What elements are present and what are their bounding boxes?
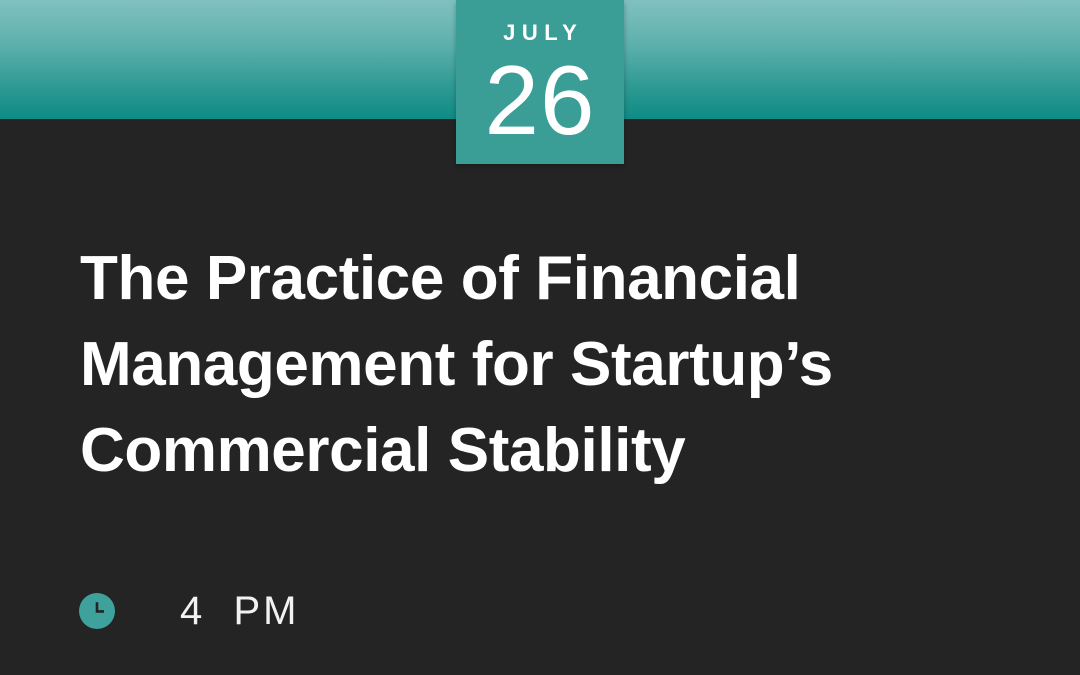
clock-icon	[79, 593, 115, 629]
event-title: The Practice of Financial Management for…	[80, 236, 960, 494]
event-time-row: 4 PM	[79, 591, 299, 631]
event-card: JULY 26 The Practice of Financial Manage…	[0, 0, 1080, 675]
card-body: The Practice of Financial Management for…	[0, 119, 1080, 675]
date-badge: JULY 26	[456, 0, 624, 164]
event-time-label: 4 PM	[180, 591, 299, 631]
date-badge-day: 26	[456, 50, 624, 151]
date-badge-month: JULY	[456, 22, 624, 44]
